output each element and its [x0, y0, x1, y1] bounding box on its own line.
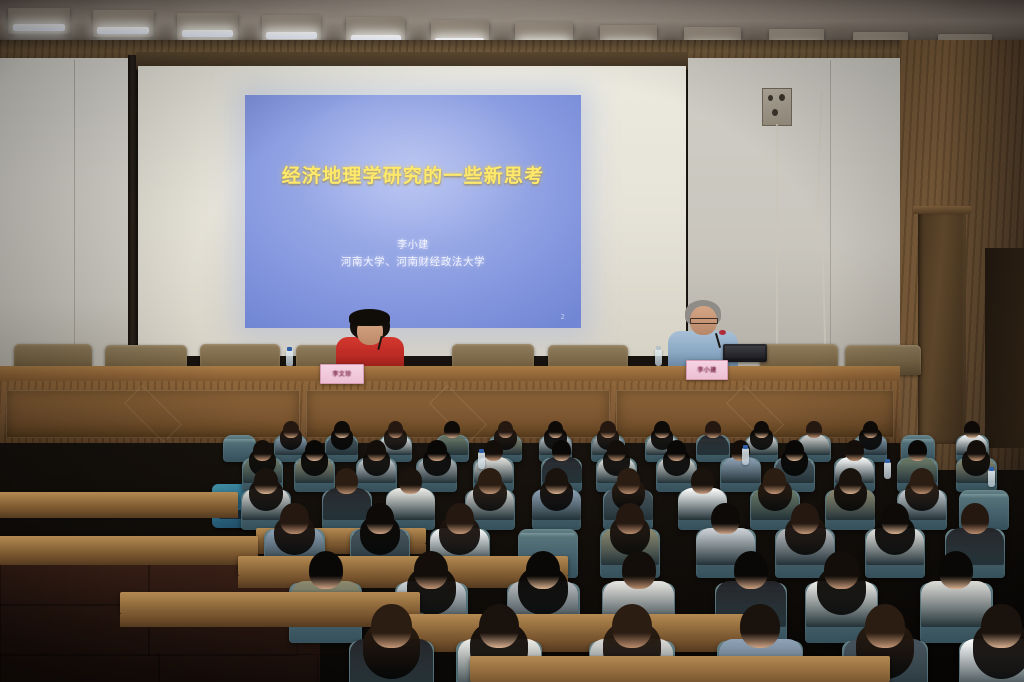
slide-title: 经济地理学研究的一些新思考	[245, 161, 581, 188]
water-bottle-stage-2	[655, 349, 662, 366]
light-tube	[97, 27, 148, 34]
audience-head	[479, 604, 519, 648]
audience-head	[754, 421, 770, 438]
audience-head	[691, 468, 714, 494]
seat-highlight	[520, 533, 575, 537]
audience-head	[309, 551, 343, 589]
audience-head	[371, 604, 411, 648]
audience-head	[654, 421, 670, 438]
audience-member	[350, 604, 433, 682]
water-bottle-audience-1	[478, 452, 485, 469]
wall-seam-b	[830, 60, 831, 360]
audience-head	[881, 503, 909, 534]
audience-head	[763, 468, 786, 494]
audience-head	[734, 551, 768, 589]
audience-head	[667, 440, 686, 461]
panel-diamond	[124, 385, 182, 443]
ceiling-light-1	[8, 8, 70, 34]
audience-head	[444, 421, 460, 438]
audience-member	[532, 468, 580, 525]
audience-head	[961, 503, 989, 534]
laptop[interactable]	[723, 344, 767, 362]
audience-head	[839, 468, 862, 494]
screen-frame-bar-left	[128, 55, 138, 361]
audience-head	[824, 551, 858, 589]
audience-head	[964, 421, 980, 438]
desk-1	[0, 492, 238, 508]
audience-head	[399, 468, 422, 494]
audience-head	[863, 421, 879, 438]
nameplate-right: 李小建	[686, 360, 728, 380]
projected-slide: 经济地理学研究的一些新思考 李小建 河南大学、河南财经政法大学 2	[245, 95, 581, 328]
audience-head	[388, 421, 404, 438]
desk-6	[470, 656, 890, 682]
water-bottle-audience-4	[988, 470, 995, 487]
lecture-hall-photo: 经济地理学研究的一些新思考 李小建 河南大学、河南财经政法大学 2	[0, 0, 1024, 682]
audience-head	[616, 503, 644, 534]
audience-head	[305, 440, 324, 461]
projection-hotspot	[245, 95, 581, 328]
audience-head	[791, 503, 819, 534]
desk-apron-2	[0, 554, 258, 565]
water-bottle-audience-2	[742, 448, 749, 465]
audience-head	[908, 440, 927, 461]
audience-head	[548, 421, 564, 438]
audience-head	[427, 440, 446, 461]
light-tube	[182, 30, 233, 37]
audience-head	[334, 421, 350, 438]
audience-head	[478, 468, 501, 494]
bottle-cap	[989, 467, 994, 471]
audience-head	[612, 604, 652, 648]
light-tube	[266, 32, 316, 39]
audience-head	[414, 551, 448, 589]
slide-page-number: 2	[561, 313, 565, 321]
wall-panel-right	[686, 58, 900, 370]
audience-head	[366, 503, 394, 534]
audience-head	[526, 551, 560, 589]
audience-head	[446, 503, 474, 534]
wall-mount-box	[762, 88, 792, 126]
microphone-head	[719, 330, 726, 335]
audience-head	[545, 468, 568, 494]
slide-affiliation: 河南大学、河南财经政法大学	[245, 254, 581, 269]
audience-head	[806, 421, 822, 438]
wall-niche	[985, 248, 1024, 448]
audience-head	[981, 604, 1021, 648]
desk-apron-5	[398, 638, 758, 652]
audience-head	[705, 421, 721, 438]
audience-head	[865, 604, 905, 648]
audience-head	[939, 551, 973, 589]
bottle-cap	[885, 459, 890, 463]
audience-head	[253, 440, 272, 461]
audience-head	[740, 604, 780, 648]
desk-apron-1	[0, 508, 238, 518]
audience-head	[622, 551, 656, 589]
slide-author: 李小建	[245, 236, 581, 251]
door-jamb	[913, 206, 971, 214]
laptop-screen	[725, 346, 765, 358]
audience-head	[283, 421, 299, 438]
audience-member	[960, 604, 1024, 682]
water-bottle-stage-1	[286, 350, 293, 367]
audience-head	[910, 468, 933, 494]
ceiling-light-3	[177, 13, 238, 40]
stage-panel-1	[6, 390, 300, 438]
audience-head	[711, 503, 739, 534]
bottle-cap	[743, 445, 748, 449]
audience-head	[498, 421, 514, 438]
audience-head	[600, 421, 616, 438]
audience-head	[280, 503, 308, 534]
light-tube	[13, 24, 65, 31]
audience-head	[367, 440, 386, 461]
audience-head	[254, 468, 277, 494]
audience-head	[785, 440, 804, 461]
nameplate-left: 李文珍	[320, 364, 364, 384]
power-cable-a	[776, 124, 778, 356]
side-door[interactable]	[918, 212, 966, 444]
audience-head	[967, 440, 986, 461]
wall-seam-a	[74, 60, 75, 360]
audience-head	[484, 440, 503, 461]
seat-highlight	[961, 494, 1007, 498]
bottle-cap	[479, 449, 484, 453]
ceiling-light-4	[262, 15, 322, 42]
audience-head	[607, 440, 626, 461]
water-bottle-audience-3	[884, 462, 891, 479]
audience-head	[845, 440, 864, 461]
wall-panel-left	[0, 58, 128, 370]
ceiling-light-2	[93, 10, 154, 36]
desk-2	[0, 536, 258, 554]
audience-head	[617, 468, 640, 494]
audience-head	[335, 468, 358, 494]
desk-5	[398, 614, 758, 638]
